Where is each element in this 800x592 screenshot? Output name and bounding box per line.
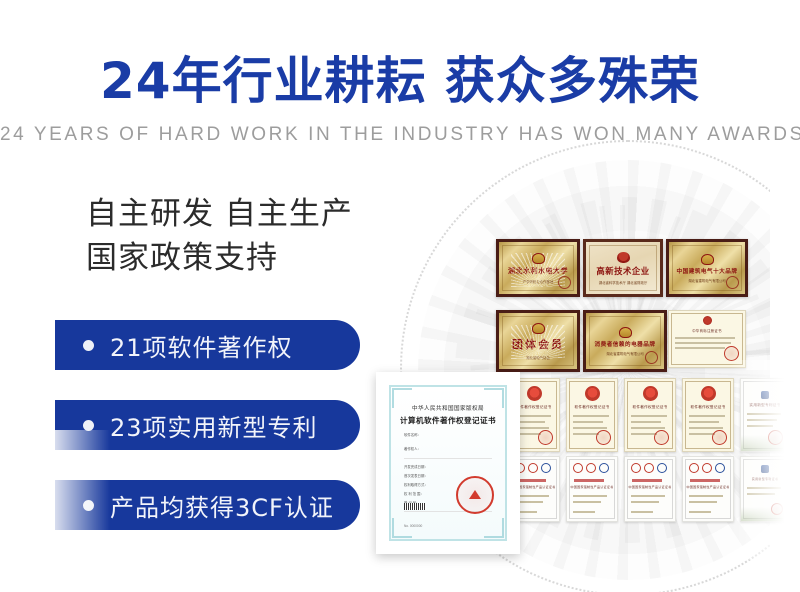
award-plaque-2-sub: 湖北省科学技术厅 湖北省财政厅 (599, 280, 648, 285)
national-emblem-icon (585, 386, 600, 401)
field-label-1: 著作权人： (404, 446, 421, 451)
certificate-title: 软件著作权登记证书 (625, 405, 675, 410)
list-item[interactable]: 软件著作权登记证书 (624, 378, 676, 452)
list-item[interactable]: 中国国家强制性产品认证证书 (682, 456, 734, 522)
certificate-title: 中国国家强制性产品认证证书 (567, 485, 617, 489)
field-label-0: 软件名称： (404, 432, 421, 437)
barcode (404, 503, 426, 510)
plaque-emblem-icon (532, 323, 545, 334)
highlight-banner-3-label: 产品均获得3CF认证 (110, 488, 334, 523)
bullet-dot-icon (83, 340, 94, 351)
national-emblem-icon (643, 386, 658, 401)
lead-line-2: 国家政策支持 (86, 236, 416, 280)
bullet-dot-icon (83, 420, 94, 431)
plaque-seal-icon (558, 276, 571, 289)
certificate-emblem-icon (703, 316, 712, 325)
seal-star-icon (469, 490, 481, 499)
field-label-5: 权 利 范 围： (404, 491, 424, 496)
highlight-banner-1[interactable]: 21项软件著作权 (55, 320, 360, 370)
certificate-title: 中国国家强制性产品认证证书 (683, 485, 733, 489)
award-certificate-6-title: 中华商标注册证书 (669, 328, 745, 333)
certificate-stamp-icon (724, 346, 739, 361)
certificate-stamp-icon (596, 430, 611, 445)
ccc-logo-icon (573, 463, 609, 473)
lead-line-1: 自主研发 自主生产 (86, 192, 416, 236)
highlight-banner-1-label: 21项软件著作权 (110, 328, 293, 363)
award-plaque-5[interactable]: 消费者信赖的电器品牌 湖北省建筑电气有限公司 (583, 310, 667, 372)
list-item[interactable]: 软件著作权登记证书 (682, 378, 734, 452)
field-label-3: 首次发表日期： (404, 473, 428, 478)
promo-banner-page: 24年行业耕耘 获众多殊荣 24 YEARS OF HARD WORK IN T… (0, 0, 800, 592)
main-certificate-issuer: 中华人民共和国国家版权局 (382, 404, 514, 412)
ccc-logo-icon (631, 463, 667, 473)
certificate-stamp-icon (654, 430, 669, 445)
award-plaque-5-title: 消费者信赖的电器品牌 (595, 340, 656, 348)
plaque-emblem-icon (532, 253, 545, 264)
ccc-logo-icon (689, 463, 725, 473)
main-certificate-title: 计算机软件著作权登记证书 (382, 415, 514, 426)
field-label-2: 开发完成日期： (404, 464, 428, 469)
plaque-seal-icon (726, 276, 739, 289)
award-plaque-3-sub: 湖北省建筑电气有限公司 (688, 278, 725, 283)
corner-ornament (484, 518, 504, 538)
award-plaque-4[interactable]: 团体会员 湖北省电气协会 (496, 310, 580, 372)
national-emblem-icon (527, 386, 542, 401)
left-edge-fade (0, 430, 110, 570)
plaque-emblem-icon (701, 254, 714, 265)
list-item[interactable]: 中国国家强制性产品认证证书 (566, 456, 618, 522)
plaque-emblem-icon (619, 327, 632, 338)
certificate-title: 软件著作权登记证书 (683, 405, 733, 410)
award-plaque-3[interactable]: 中国建筑电气十大品牌 湖北省建筑电气有限公司 (666, 239, 748, 297)
flame-logo-icon (617, 252, 630, 263)
ccc-logo-icon (515, 463, 551, 473)
certificate-title: 中国国家强制性产品认证证书 (625, 485, 675, 489)
national-emblem-icon (701, 386, 716, 401)
award-plaque-2[interactable]: 高新技术企业 湖北省科学技术厅 湖北省财政厅 (583, 239, 663, 297)
right-edge-fade (730, 360, 800, 560)
main-certificate-number: No. 0000000 (404, 524, 422, 528)
highlight-banner-2-label: 23项实用新型专利 (110, 408, 318, 443)
award-plaque-2-title: 高新技术企业 (596, 265, 649, 277)
official-seal-icon (456, 476, 494, 514)
certificate-stamp-icon (538, 430, 553, 445)
award-plaque-3-title: 中国建筑电气十大品牌 (677, 267, 738, 275)
certificate-title: 软件著作权登记证书 (567, 405, 617, 410)
list-item[interactable]: 软件著作权登记证书 (566, 378, 618, 452)
award-plaque-5-sub: 湖北省建筑电气有限公司 (606, 351, 643, 356)
corner-ornament (392, 518, 412, 538)
plaque-seal-icon (645, 351, 658, 364)
list-item[interactable]: 中国国家强制性产品认证证书 (624, 456, 676, 522)
main-certificate[interactable]: 中华人民共和国国家版权局 计算机软件著作权登记证书 软件名称： 著作权人： 开发… (382, 378, 514, 548)
field-label-4: 权利取得方式： (404, 482, 428, 487)
page-subtitle: 24 YEARS OF HARD WORK IN THE INDUSTRY HA… (0, 122, 800, 148)
award-plaque-1[interactable]: 湖北水利水电大学 产学研校企合作基地 (496, 239, 580, 297)
page-title: 24年行业耕耘 获众多殊荣 (0, 52, 800, 110)
lead-copy: 自主研发 自主生产 国家政策支持 (86, 192, 416, 280)
certificate-stamp-icon (712, 430, 727, 445)
